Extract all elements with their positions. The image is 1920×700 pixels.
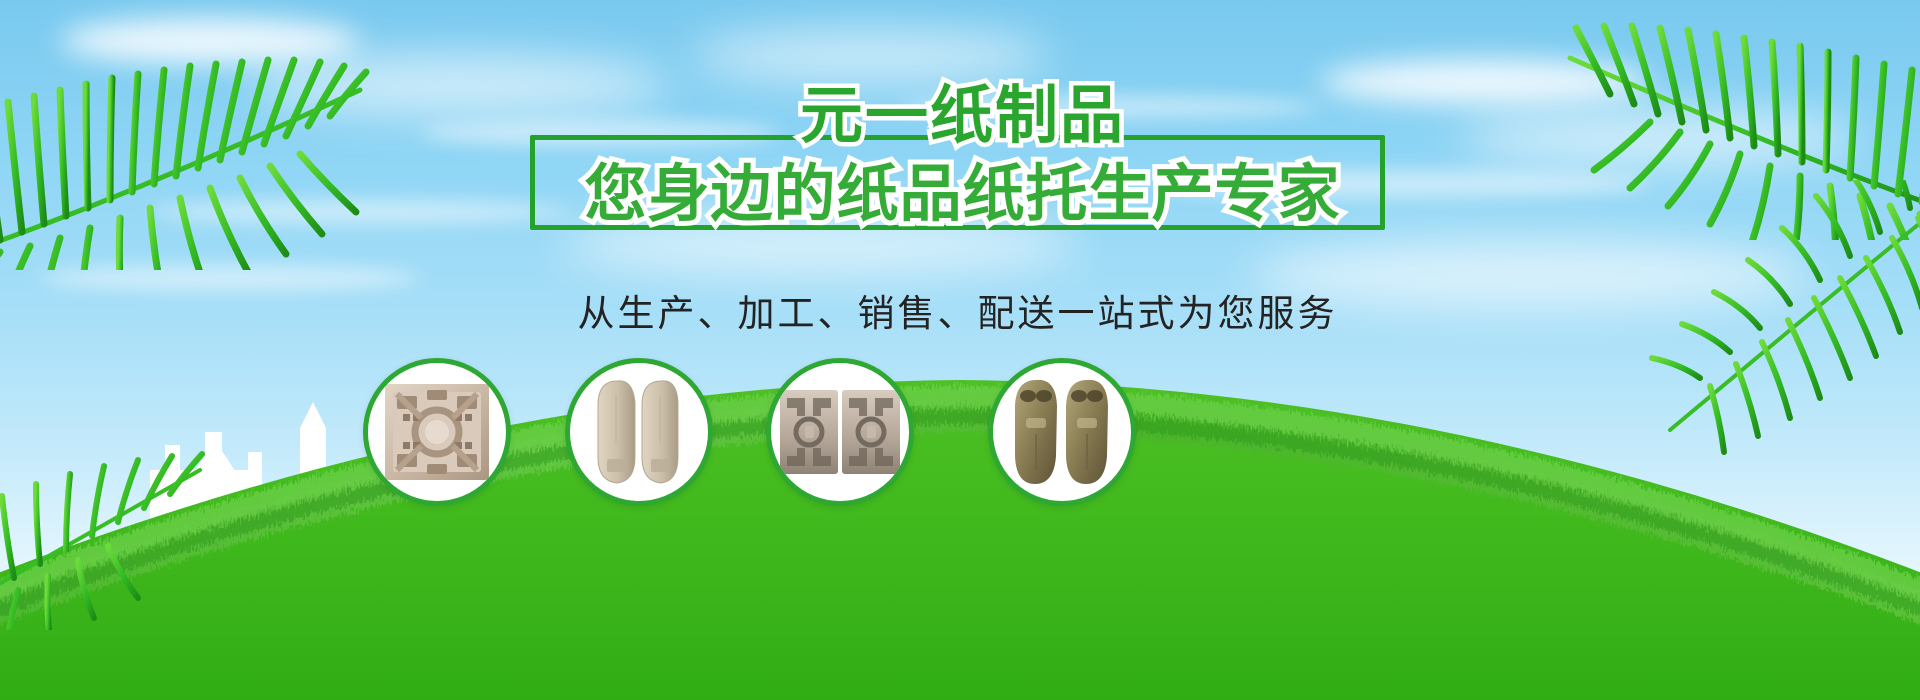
promo-banner: 元一纸制品 您身边的纸品纸托生产专家 从生产、加工、销售、配送一站式为您服务	[0, 0, 1920, 700]
tagline-text: 从生产、加工、销售、配送一站式为您服务	[530, 292, 1385, 336]
pulp-corner-icon	[779, 386, 901, 478]
palm-frond-icon	[0, 0, 390, 270]
pulp-tray-icon	[383, 380, 491, 484]
product-circle-2[interactable]	[565, 358, 713, 506]
palm-frond-icon	[0, 400, 230, 630]
headline-frame: 元一纸制品 您身边的纸品纸托生产专家	[530, 135, 1385, 230]
palm-frond-icon	[1640, 180, 1920, 470]
product-circle-4[interactable]	[988, 358, 1136, 506]
headline-text: 您身边的纸品纸托生产专家	[517, 162, 1408, 226]
pulp-insole-icon	[1006, 374, 1118, 490]
green-hill	[0, 280, 1920, 700]
product-circle-3[interactable]	[766, 358, 914, 506]
pulp-shoe-tree-icon	[583, 373, 695, 491]
brand-title: 元一纸制品	[535, 84, 1390, 147]
product-circle-1[interactable]	[363, 358, 511, 506]
